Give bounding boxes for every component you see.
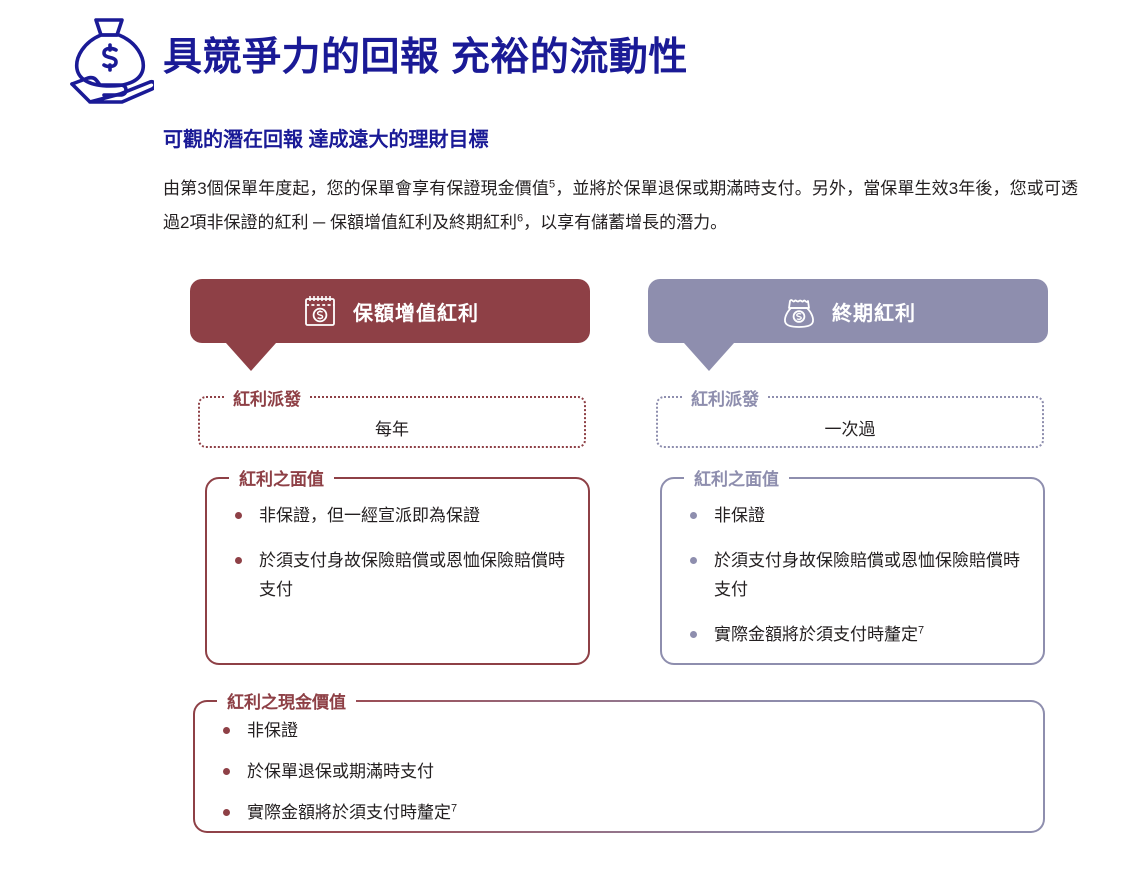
cash-value-legend: 紅利之現金價值 [217,688,356,713]
footnote-ref: 7 [451,802,457,814]
list-item: 實際金額將於須支付時釐定7 [215,798,1021,827]
banner-pointer [226,343,276,371]
page-title: 具競爭力的回報 充裕的流動性 [163,26,688,82]
list-item: 於須支付身故保險賠償或恩恤保險賠償時支付 [227,546,566,604]
payout-value: 每年 [375,405,409,440]
footnote-ref: 6 [517,212,523,224]
payout-legend: 紅利派發 [224,385,310,410]
banner-label: 終期紅利 [832,297,916,326]
list-item: 於保單退保或期滿時支付 [215,757,1021,786]
list-item: 實際金額將於須支付時釐定7 [682,620,1021,649]
list-item: 非保證 [682,501,1021,530]
cash-value-box: 紅利之現金價值 非保證於保單退保或期滿時支付實際金額將於須支付時釐定7 [193,700,1045,833]
face-value-legend: 紅利之面值 [229,465,334,490]
face-value-box-terminal-bonus: 紅利之面值 非保證於須支付身故保險賠償或恩恤保險賠償時支付實際金額將於須支付時釐… [660,477,1045,665]
payout-box-annual-sum-bonus: 紅利派發 每年 [198,396,586,448]
footnote-ref: 7 [918,624,924,636]
footnote-ref: 5 [549,178,555,190]
face-value-list: 非保證，但一經宣派即為保證於須支付身故保險賠償或恩恤保險賠償時支付 [207,479,588,604]
payout-box-terminal-bonus: 紅利派發 一次過 [656,396,1044,448]
face-value-box-annual-sum-bonus: 紅利之面值 非保證，但一經宣派即為保證於須支付身故保險賠償或恩恤保險賠償時支付 [205,477,590,665]
banner-terminal-bonus: 終期紅利 [648,279,1048,343]
list-item: 於須支付身故保險賠償或恩恤保險賠償時支付 [682,546,1021,604]
banner-pointer [684,343,734,371]
page-subtitle: 可觀的潛在回報 達成遠大的理財目標 [163,123,489,152]
calendar-dollar-icon [301,292,339,330]
money-bag-dollar-icon [780,292,818,330]
banner-label: 保額增值紅利 [353,297,479,326]
payout-value: 一次過 [825,405,876,440]
intro-paragraph: 由第3個保單年度起，您的保單會享有保證現金價值5，並將於保單退保或期滿時支付。另… [163,172,1078,240]
list-item: 非保證 [215,716,1021,745]
face-value-list: 非保證於須支付身故保險賠償或恩恤保險賠償時支付實際金額將於須支付時釐定7 [662,479,1043,649]
payout-legend: 紅利派發 [682,385,768,410]
banner-annual-sum-bonus: 保額增值紅利 [190,279,590,343]
slide-root: 具競爭力的回報 充裕的流動性 可觀的潛在回報 達成遠大的理財目標 由第3個保單年… [0,0,1140,870]
cash-value-list: 非保證於保單退保或期滿時支付實際金額將於須支付時釐定7 [195,702,1043,827]
list-item: 非保證，但一經宣派即為保證 [227,501,566,530]
money-bag-in-hand-icon [66,14,154,106]
face-value-legend: 紅利之面值 [684,465,789,490]
